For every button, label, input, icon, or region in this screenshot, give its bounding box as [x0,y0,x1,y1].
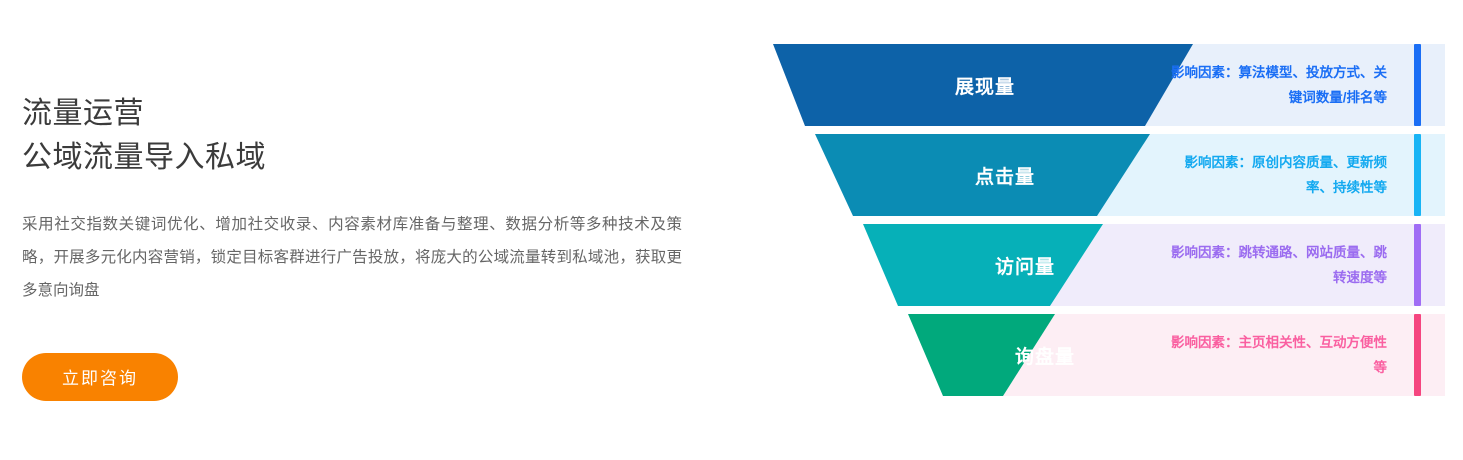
funnel-row-accent-bar [1414,314,1421,396]
funnel-row-label: 展现量 [805,44,1165,126]
funnel-row[interactable]: 展现量 影响因素：算法模型、投放方式、关键词数量/排名等 [745,44,1445,126]
funnel-row-label: 访问量 [885,224,1165,306]
funnel-row-note: 影响因素：主页相关性、互动方便性等 [1171,314,1387,396]
funnel-row-label: 点击量 [845,134,1165,216]
funnel-row[interactable]: 点击量 影响因素：原创内容质量、更新频率、持续性等 [745,134,1445,216]
intro-paragraph: 采用社交指数关键词优化、增加社交收录、内容素材库准备与整理、数据分析等多种技术及… [22,208,682,307]
funnel-row[interactable]: 询盘量 影响因素：主页相关性、互动方便性等 [745,314,1445,396]
funnel-row-note: 影响因素：算法模型、投放方式、关键词数量/排名等 [1171,44,1387,126]
funnel-row-label: 询盘量 [925,314,1165,396]
funnel-row-accent-bar [1414,224,1421,306]
conversion-funnel-diagram: 展现量 影响因素：算法模型、投放方式、关键词数量/排名等 点击量 影响因素：原创… [745,44,1445,396]
funnel-row-note: 影响因素：原创内容质量、更新频率、持续性等 [1171,134,1387,216]
headline-line-2: 公域流量导入私域 [22,136,702,180]
funnel-row-accent-bar [1414,44,1421,126]
consult-now-button[interactable]: 立即咨询 [22,353,178,401]
intro-section: 流量运营 公域流量导入私域 采用社交指数关键词优化、增加社交收录、内容素材库准备… [22,72,702,401]
funnel-row-accent-bar [1414,134,1421,216]
funnel-row-note: 影响因素：跳转通路、网站质量、跳转速度等 [1171,224,1387,306]
page-title: 流量运营 公域流量导入私域 [22,92,702,180]
funnel-row[interactable]: 访问量 影响因素：跳转通路、网站质量、跳转速度等 [745,224,1445,306]
headline-line-1: 流量运营 [22,97,144,130]
